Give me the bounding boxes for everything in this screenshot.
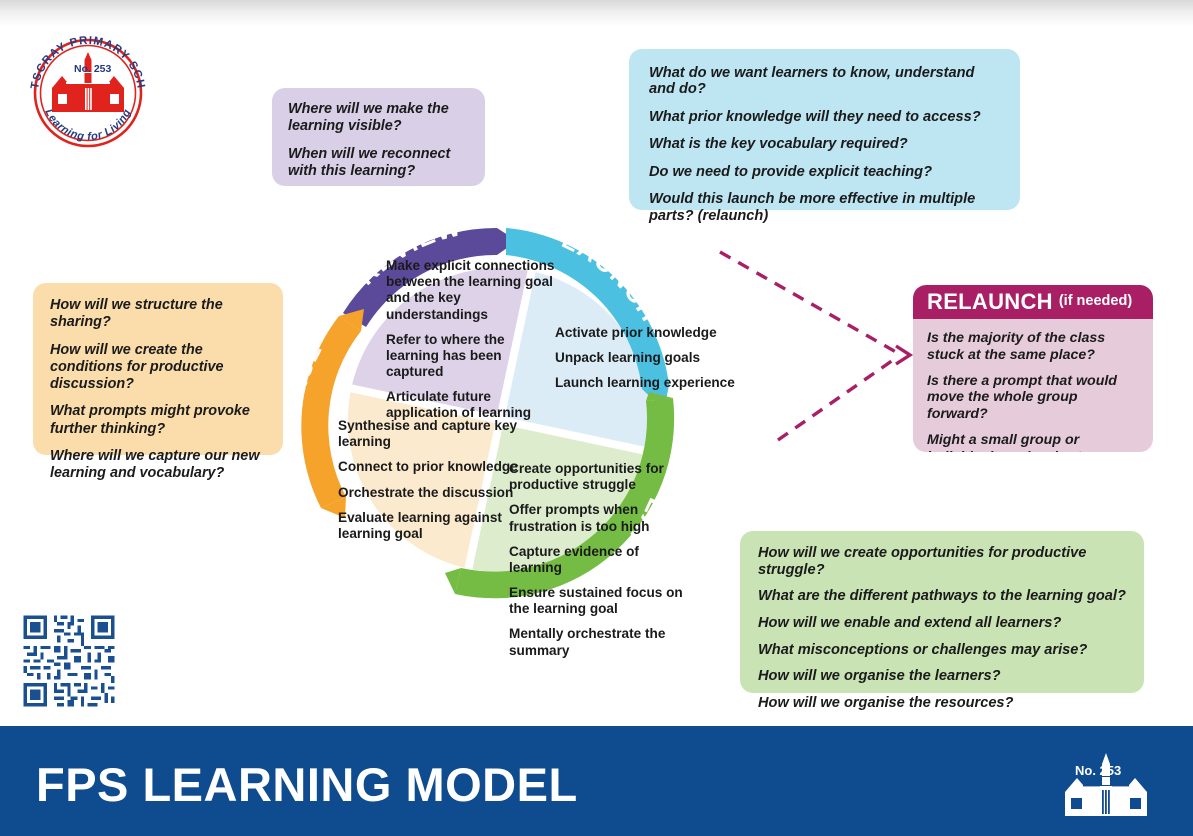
callout-question: What are the different pathways to the l… — [758, 588, 1126, 605]
callout-question: How will we create opportunities for pro… — [758, 545, 1126, 578]
callout-review: Where will we make the learning visible?… — [272, 88, 485, 186]
callout-question: Do we need to provide explicit teaching? — [649, 164, 1002, 180]
banner-school-logo: No. 253 — [1047, 750, 1165, 822]
segment-item: Capture evidence of learning — [509, 544, 689, 576]
segment-item: Evaluate learning against learning goal — [338, 510, 518, 542]
poster-title: FPS LEARNING MODEL — [36, 757, 578, 812]
callout-explore: How will we create opportunities for pro… — [740, 531, 1144, 693]
callout-question: How will we organise the resources? — [758, 695, 1126, 712]
segment-item: Create opportunities for productive stru… — [509, 461, 689, 493]
school-logo: FOOTSCRAY PRIMARY SCHOOL Learning for Li… — [22, 32, 154, 150]
relaunch-connector — [700, 230, 930, 460]
relaunch-body: Is the majority of the class stuck at th… — [913, 319, 1153, 452]
callout-question: Would this launch be more effective in m… — [649, 191, 1002, 224]
callout-question: What do we want learners to know, unders… — [649, 65, 1002, 98]
callout-relaunch: RELAUNCH (if needed) Is the majority of … — [913, 285, 1153, 452]
wheel-segment-explore-items: Create opportunities for productive stru… — [509, 461, 689, 659]
relaunch-header: RELAUNCH (if needed) — [913, 285, 1153, 319]
relaunch-subtitle: (if needed) — [1059, 293, 1132, 311]
callout-question: When will we reconnect with this learnin… — [288, 146, 469, 181]
callout-question: How will we create the conditions for pr… — [50, 342, 266, 394]
segment-item: Mentally orchestrate the summary — [509, 626, 689, 658]
segment-item: Ensure sustained focus on the learning g… — [509, 585, 689, 617]
logo-number: No. 253 — [74, 63, 112, 75]
callout-summarise: How will we structure the sharing? How w… — [33, 283, 283, 455]
banner-logo-number: No. 253 — [1075, 763, 1121, 778]
segment-item: Make explicit connections between the le… — [386, 258, 561, 323]
top-gradient-strip — [0, 0, 1193, 26]
segment-item: Refer to where the learning has been cap… — [386, 332, 561, 381]
callout-launch: What do we want learners to know, unders… — [629, 49, 1020, 210]
relaunch-title: RELAUNCH — [927, 289, 1053, 315]
segment-item: Offer prompts when frustration is too hi… — [509, 502, 689, 534]
callout-question: Where will we make the learning visible? — [288, 101, 469, 136]
wheel-segment-summarise-items: Synthesise and capture key learning Conn… — [338, 418, 518, 542]
qr-code[interactable] — [20, 612, 118, 710]
callout-question: Is the majority of the class stuck at th… — [927, 330, 1139, 364]
callout-question: How will we enable and extend all learne… — [758, 615, 1126, 632]
callout-question: Might a small group or individual need a… — [927, 432, 1139, 452]
callout-question: What prior knowledge will they need to a… — [649, 109, 1002, 125]
callout-question: Where will we capture our new learning a… — [50, 448, 266, 483]
poster-canvas: FOOTSCRAY PRIMARY SCHOOL Learning for Li… — [0, 0, 1193, 836]
segment-item: Connect to prior knowledge — [338, 459, 518, 475]
segment-item: Orchestrate the discussion — [338, 485, 518, 501]
segment-item: Articulate future application of learnin… — [386, 389, 561, 421]
callout-question: How will we structure the sharing? — [50, 297, 266, 332]
wheel-segment-review-items: Make explicit connections between the le… — [386, 258, 561, 422]
callout-question: What prompts might provoke further think… — [50, 403, 266, 438]
segment-item: Synthesise and capture key learning — [338, 418, 518, 450]
callout-question: What is the key vocabulary required? — [649, 136, 1002, 152]
callout-question: How will we organise the learners? — [758, 668, 1126, 685]
callout-question: Is there a prompt that would move the wh… — [927, 373, 1139, 423]
callout-question: What misconceptions or challenges may ar… — [758, 642, 1126, 659]
